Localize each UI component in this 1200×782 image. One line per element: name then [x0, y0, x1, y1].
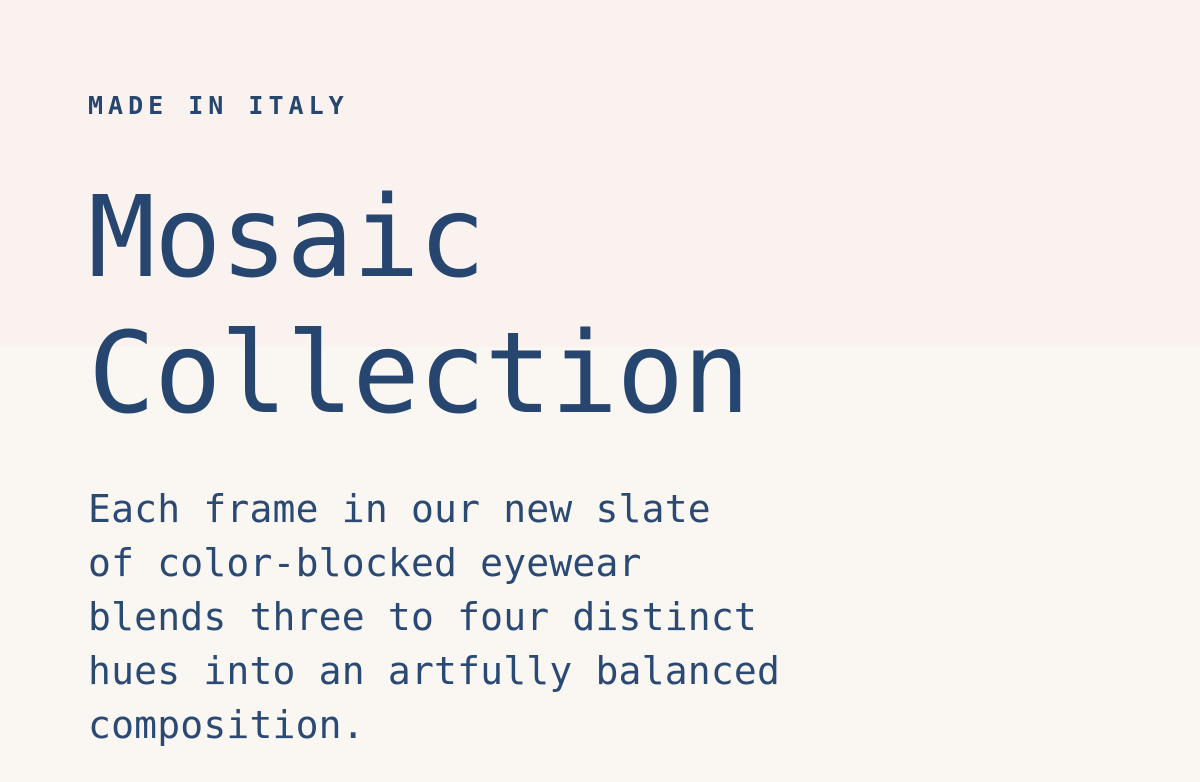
headline-line-1: Mosaic: [88, 170, 749, 306]
description-line-3: blends three to four distinct: [88, 590, 780, 644]
description-line-5: composition.: [88, 698, 780, 752]
description-line-4: hues into an artfully balanced: [88, 644, 780, 698]
description-line-2: of color-blocked eyewear: [88, 536, 780, 590]
page-title: Mosaic Collection: [88, 170, 749, 442]
hero-banner: MADE IN ITALY Mosaic Collection Each fra…: [0, 0, 1200, 782]
hero-description: Each frame in our new slate of color-blo…: [88, 482, 780, 752]
eyebrow-label: MADE IN ITALY: [88, 93, 349, 118]
headline-line-2: Collection: [88, 306, 749, 442]
description-line-1: Each frame in our new slate: [88, 482, 780, 536]
